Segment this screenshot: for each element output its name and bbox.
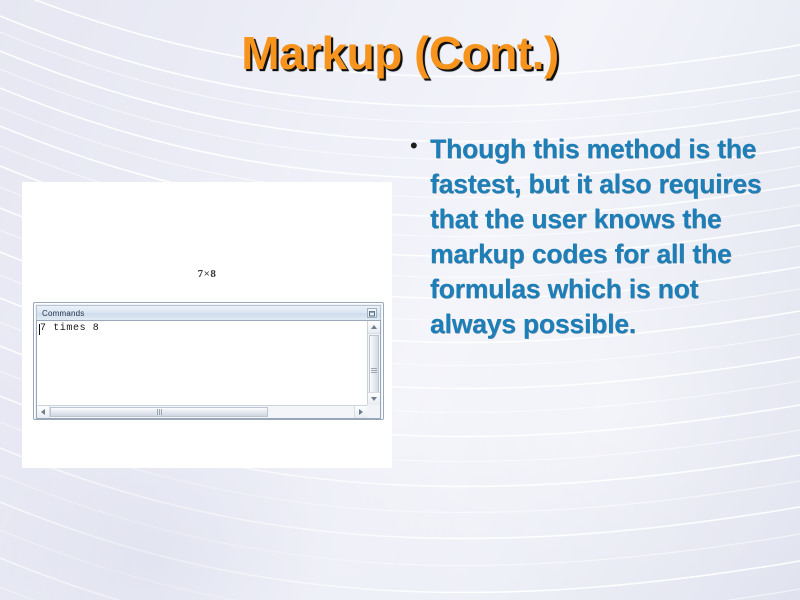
commands-panel-title: Commands	[37, 309, 85, 318]
caret-up-icon[interactable]	[368, 321, 380, 334]
commands-text-area[interactable]: 7 times 8	[36, 320, 381, 419]
scroll-grip-icon	[157, 409, 162, 415]
scroll-grip-icon	[371, 368, 377, 373]
slide-title: Markup (Cont.)	[60, 28, 740, 79]
caret-right-icon[interactable]	[354, 406, 367, 418]
commands-vertical-scrollbar[interactable]	[367, 321, 380, 405]
restore-window-icon[interactable]	[367, 308, 377, 318]
commands-horizontal-scrollbar[interactable]	[37, 405, 367, 418]
presentation-slide: Markup (Cont.) • Though this method is t…	[0, 0, 800, 600]
scrollbar-corner	[367, 405, 380, 418]
caret-left-icon[interactable]	[37, 406, 50, 418]
bullet-item-text: Though this method is the fastest, but i…	[430, 132, 780, 342]
caret-down-icon[interactable]	[368, 392, 380, 405]
formula-preview: 7×8	[22, 268, 392, 280]
commands-panel: Commands 7 times 8	[33, 302, 384, 420]
embedded-screenshot-image: 7×8 Commands 7 times 8	[22, 182, 392, 468]
slide-body-bullet-list: • Though this method is the fastest, but…	[410, 132, 780, 342]
commands-panel-titlebar: Commands	[36, 305, 381, 320]
bullet-point-icon: •	[410, 132, 430, 146]
horizontal-scroll-thumb[interactable]	[50, 407, 268, 417]
commands-text-value: 7 times 8	[40, 323, 99, 334]
